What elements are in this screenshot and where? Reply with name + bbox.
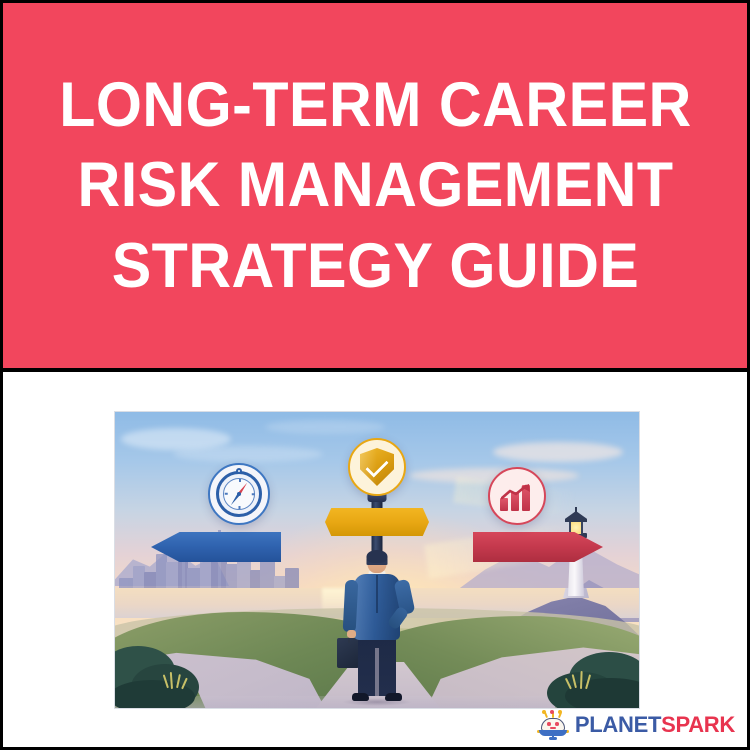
- cloud-wisp: [265, 420, 385, 434]
- planetspark-logo[interactable]: PlanetSpark: [538, 711, 735, 739]
- planetspark-robot-icon: [538, 711, 568, 739]
- header-banner: LONG-TERM CAREER RISK MANAGEMENT STRATEG…: [3, 3, 747, 372]
- growth-chart-badge: [488, 467, 546, 525]
- businessman-figure: [346, 552, 408, 704]
- poster-body: PlanetSpark: [3, 376, 747, 747]
- logo-wordmark: PlanetSpark: [575, 712, 735, 738]
- logo-word-planet: Planet: [575, 712, 661, 738]
- poster-card: LONG-TERM CAREER RISK MANAGEMENT STRATEG…: [0, 0, 750, 750]
- cloud-wisp: [173, 446, 323, 462]
- hero-illustration: [115, 412, 639, 708]
- trend-arrow-icon: [501, 484, 531, 500]
- center-sign: [325, 508, 429, 536]
- compass-badge: [208, 463, 270, 525]
- page-title: LONG-TERM CAREER RISK MANAGEMENT STRATEG…: [32, 65, 717, 307]
- logo-word-spark: Spark: [661, 712, 735, 738]
- growth-chart-icon: [499, 481, 535, 511]
- cloud-wisp: [493, 442, 623, 462]
- compass-icon: [216, 471, 262, 517]
- shield-check-icon: [360, 448, 394, 486]
- shield-badge: [348, 438, 406, 496]
